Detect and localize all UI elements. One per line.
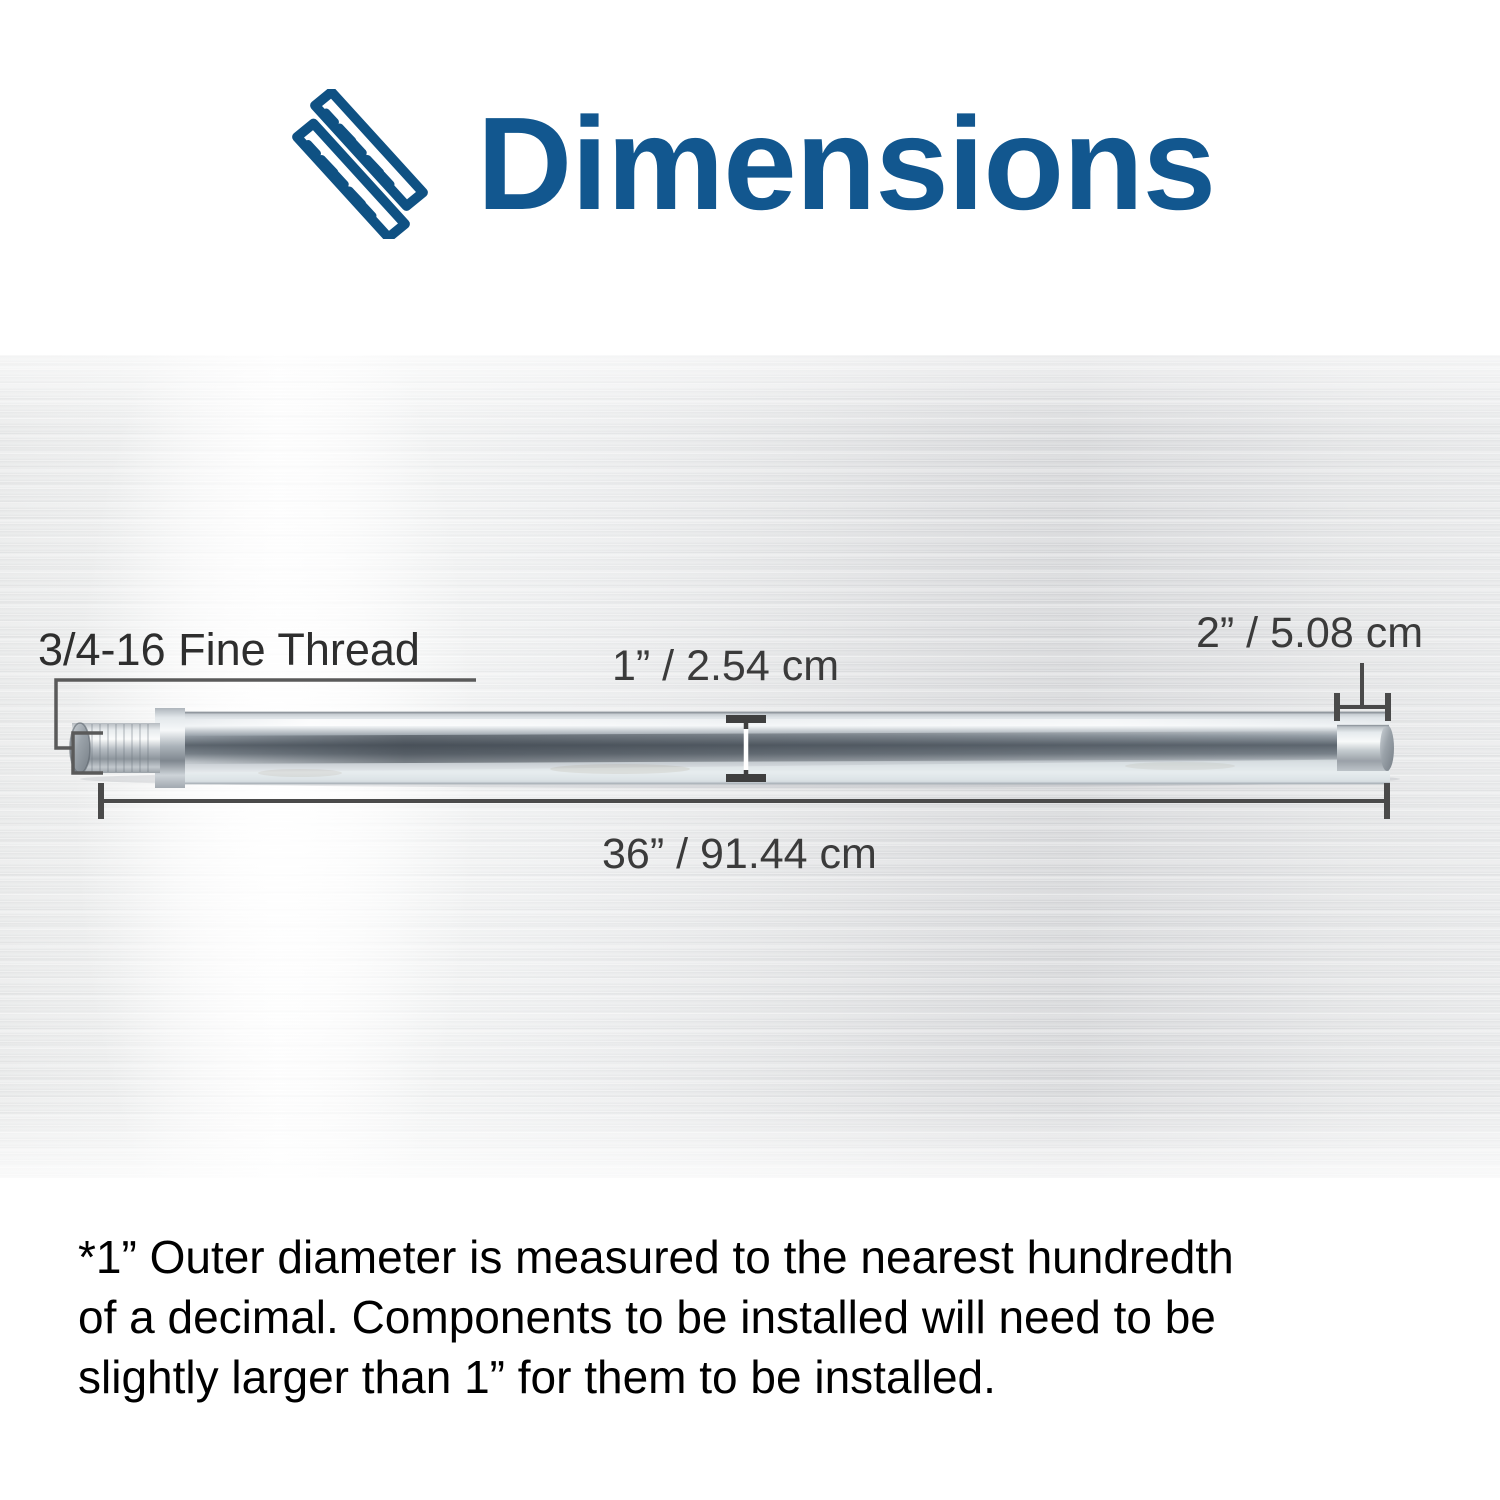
overall-length-callout: 36” / 91.44 cm (100, 783, 1388, 878)
footnote-line-3: slightly larger than 1” for them to be i… (78, 1348, 1448, 1408)
crossed-rulers-icon (285, 89, 435, 239)
footnote-block: *1” Outer diameter is measured to the ne… (78, 1228, 1448, 1407)
header-banner: Dimensions (0, 0, 1500, 355)
dimension-drawing: 3/4-16 Fine Thread 1” / 2.54 cm (0, 355, 1500, 1178)
product-diagram-panel: 3/4-16 Fine Thread 1” / 2.54 cm (0, 355, 1500, 1178)
page-title: Dimensions (477, 98, 1215, 230)
thread-callout-label: 3/4-16 Fine Thread (38, 624, 420, 675)
diameter-label: 1” / 2.54 cm (612, 642, 839, 690)
overall-length-label: 36” / 91.44 cm (602, 830, 877, 878)
tip-length-callout: 2” / 5.08 cm (1196, 609, 1423, 721)
footnote-line-2: of a decimal. Components to be installed… (78, 1288, 1448, 1348)
tip-length-label: 2” / 5.08 cm (1196, 609, 1423, 657)
dimensions-infographic: Dimensions (0, 0, 1500, 1500)
footnote-line-1: *1” Outer diameter is measured to the ne… (78, 1228, 1448, 1288)
